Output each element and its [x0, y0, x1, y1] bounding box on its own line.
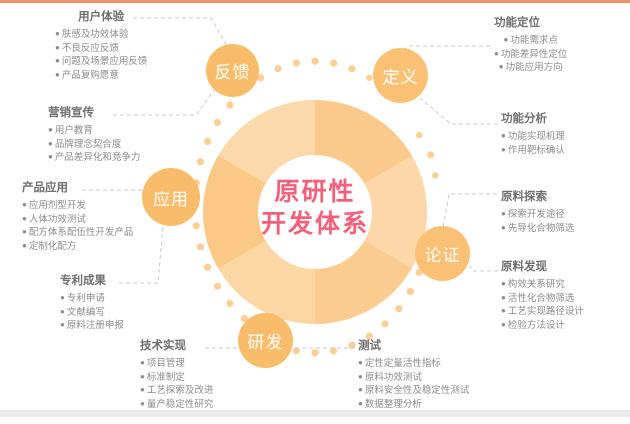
list-item: 原料安全性及稳定性测试 [358, 384, 469, 398]
list-item: 产品差异化和竞争力 [48, 151, 140, 165]
block-user-experience: 用户体验 肤感及功效体验 不良反应反馈 问题及场景应用反馈 产品复购愿意 [55, 8, 147, 82]
infographic-canvas: 反馈 定义 应用 论证 研发 原研性 开发体系 用户体验 肤感及功效体验 不良反… [0, 0, 630, 424]
list-item: 作用靶标确认 [501, 144, 565, 158]
list-item: 功能差异性定位 [494, 48, 567, 62]
block-items: 探索开发途径 先导化合物筛选 [501, 208, 574, 235]
node-label: 定义 [383, 63, 419, 88]
list-item: 原料功效测试 [358, 371, 469, 385]
list-item: 定性定量活性指标 [358, 357, 469, 371]
list-item: 项目管理 [140, 357, 213, 371]
node-definition[interactable]: 定义 [373, 48, 428, 103]
block-heading: 测试 [358, 337, 469, 353]
list-item: 原料注册申报 [60, 319, 124, 333]
block-testing: 测试 定性定量活性指标 原料功效测试 原料安全性及稳定性测试 数据整理分析 [358, 337, 469, 411]
center-title: 原研性 开发体系 [235, 176, 395, 240]
block-items: 应用剂型开发 人体功效测试 配方体系配伍性开发产品 定制化配方 [22, 199, 133, 253]
list-item: 功能实现机理 [501, 130, 565, 144]
block-heading: 功能定位 [494, 14, 567, 30]
block-heading: 用户体验 [55, 8, 147, 24]
block-heading: 产品应用 [22, 179, 133, 195]
node-rd[interactable]: 研发 [238, 313, 293, 368]
list-item: 功能需求点 [494, 34, 567, 48]
node-argument[interactable]: 论证 [415, 226, 470, 281]
node-application[interactable]: 应用 [142, 168, 200, 226]
block-items: 功能需求点 功能差异性定位 功能应用方向 [494, 34, 567, 75]
center-title-line2: 开发体系 [235, 208, 395, 240]
list-item: 肤感及功效体验 [55, 28, 147, 42]
node-label: 应用 [153, 185, 189, 210]
block-items: 肤感及功效体验 不良反应反馈 问题及场景应用反馈 产品复购愿意 [55, 28, 147, 82]
block-product-application: 产品应用 应用剂型开发 人体功效测试 配方体系配伍性开发产品 定制化配方 [22, 179, 133, 253]
block-items: 定性定量活性指标 原料功效测试 原料安全性及稳定性测试 数据整理分析 [358, 357, 469, 411]
block-heading: 营销宣传 [48, 104, 140, 120]
block-patent-results: 专利成果 专利申请 文献编写 原料注册申报 [60, 272, 124, 333]
list-item: 用户教育 [48, 124, 140, 138]
block-items: 构效关系研究 活性化合物筛选 工艺实现路径设计 检验方法设计 [501, 278, 584, 332]
block-marketing: 营销宣传 用户教育 品牌理念契合度 产品差异化和竞争力 [48, 104, 140, 165]
block-items: 专利申请 文献编写 原料注册申报 [60, 292, 124, 333]
list-item: 文献编写 [60, 306, 124, 320]
list-item: 活性化合物筛选 [501, 292, 584, 306]
block-items: 项目管理 标准制定 工艺探索及改进 量产稳定性研究 [140, 357, 213, 411]
list-item: 定制化配方 [22, 240, 133, 254]
block-items: 功能实现机理 作用靶标确认 [501, 130, 565, 157]
block-heading: 专利成果 [60, 272, 124, 288]
list-item: 构效关系研究 [501, 278, 584, 292]
list-item: 问题及场景应用反馈 [55, 55, 147, 69]
list-item: 先导化合物筛选 [501, 222, 574, 236]
node-label: 论证 [425, 241, 461, 266]
list-item: 功能应用方向 [494, 61, 567, 75]
list-item: 产品复购愿意 [55, 69, 147, 83]
node-label: 反馈 [215, 58, 251, 83]
block-heading: 原料探索 [501, 188, 574, 204]
list-item: 应用剂型开发 [22, 199, 133, 213]
block-heading: 功能分析 [501, 110, 565, 126]
block-heading: 技术实现 [140, 337, 213, 353]
list-item: 数据整理分析 [358, 398, 469, 412]
block-raw-material-discovery: 原料发现 构效关系研究 活性化合物筛选 工艺实现路径设计 检验方法设计 [501, 258, 584, 332]
center-title-line1: 原研性 [235, 176, 395, 208]
list-item: 人体功效测试 [22, 213, 133, 227]
list-item: 工艺探索及改进 [140, 384, 213, 398]
node-label: 研发 [248, 328, 284, 353]
list-item: 配方体系配伍性开发产品 [22, 226, 133, 240]
block-function-positioning: 功能定位 功能需求点 功能差异性定位 功能应用方向 [494, 14, 567, 75]
list-item: 检验方法设计 [501, 319, 584, 333]
list-item: 标准制定 [140, 371, 213, 385]
list-item: 工艺实现路径设计 [501, 305, 584, 319]
block-tech-implementation: 技术实现 项目管理 标准制定 工艺探索及改进 量产稳定性研究 [140, 337, 213, 411]
block-function-analysis: 功能分析 功能实现机理 作用靶标确认 [501, 110, 565, 157]
list-item: 专利申请 [60, 292, 124, 306]
list-item: 探索开发途径 [501, 208, 574, 222]
block-items: 用户教育 品牌理念契合度 产品差异化和竞争力 [48, 124, 140, 165]
list-item: 不良反应反馈 [55, 42, 147, 56]
list-item: 品牌理念契合度 [48, 138, 140, 152]
block-heading: 原料发现 [501, 258, 584, 274]
block-raw-material-exploration: 原料探索 探索开发途径 先导化合物筛选 [501, 188, 574, 235]
list-item: 量产稳定性研究 [140, 398, 213, 412]
node-feedback[interactable]: 反馈 [206, 44, 259, 97]
